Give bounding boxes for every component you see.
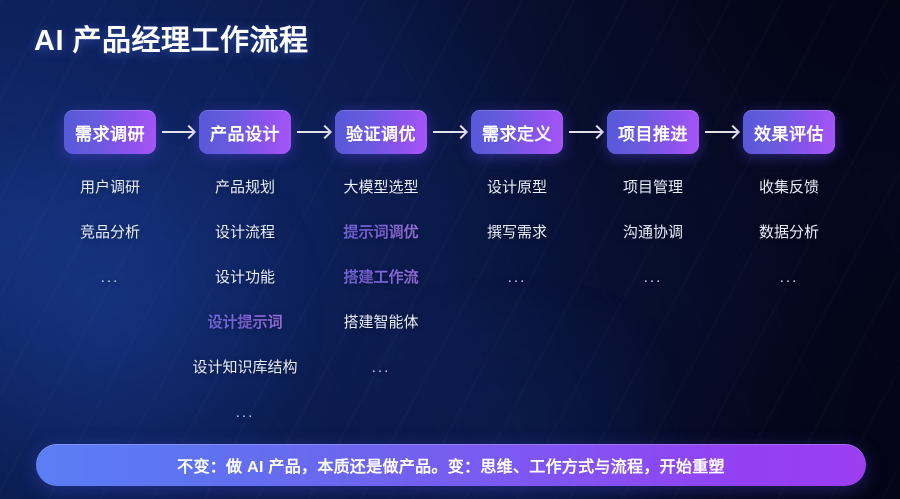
- flow-step-label: 验证调优: [346, 120, 416, 145]
- flow-step-label: 产品设计: [210, 120, 280, 145]
- column-item-ellipsis: ...: [177, 403, 313, 422]
- flow-step-label: 需求调研: [75, 120, 145, 145]
- column-item: 提示词调优: [313, 223, 449, 242]
- column-item: 用户调研: [42, 178, 178, 197]
- arrow-right-icon: [433, 131, 465, 133]
- flow-step-4[interactable]: 需求定义: [471, 110, 563, 154]
- column-5: 项目管理沟通协调...: [585, 178, 721, 313]
- bottom-banner: 不变：做 AI 产品，本质还是做产品。变：思维、工作方式与流程，开始重塑: [36, 444, 866, 486]
- flow-step-label: 效果评估: [754, 120, 824, 145]
- column-2: 产品规划设计流程设计功能设计提示词设计知识库结构...: [177, 178, 313, 448]
- column-item-ellipsis: ...: [721, 268, 857, 287]
- column-item-ellipsis: ...: [449, 268, 585, 287]
- column-item: 设计提示词: [177, 313, 313, 332]
- flow-step-6[interactable]: 效果评估: [743, 110, 835, 154]
- arrow-right-icon: [705, 131, 737, 133]
- column-1: 用户调研竞品分析...: [42, 178, 178, 313]
- flow-step-2[interactable]: 产品设计: [199, 110, 291, 154]
- column-item-ellipsis: ...: [585, 268, 721, 287]
- flow-step-5[interactable]: 项目推进: [607, 110, 699, 154]
- column-item-ellipsis: ...: [313, 358, 449, 377]
- column-item: 搭建工作流: [313, 268, 449, 287]
- page-title: AI 产品经理工作流程: [34, 17, 309, 59]
- arrow-right-icon: [569, 131, 601, 133]
- flow-step-3[interactable]: 验证调优: [335, 110, 427, 154]
- column-item: 数据分析: [721, 223, 857, 242]
- column-item-ellipsis: ...: [42, 268, 178, 287]
- column-item: 撰写需求: [449, 223, 585, 242]
- bottom-banner-text: 不变：做 AI 产品，本质还是做产品。变：思维、工作方式与流程，开始重塑: [177, 453, 725, 477]
- column-4: 设计原型撰写需求...: [449, 178, 585, 313]
- column-item: 收集反馈: [721, 178, 857, 197]
- column-item: 搭建智能体: [313, 313, 449, 332]
- column-item: 产品规划: [177, 178, 313, 197]
- column-item: 项目管理: [585, 178, 721, 197]
- column-item: 设计知识库结构: [177, 358, 313, 377]
- column-item: 大模型选型: [313, 178, 449, 197]
- flow-step-label: 需求定义: [482, 120, 552, 145]
- column-6: 收集反馈数据分析...: [721, 178, 857, 313]
- flow-step-label: 项目推进: [618, 120, 688, 145]
- column-item: 沟通协调: [585, 223, 721, 242]
- flow-steps-row: 需求调研产品设计验证调优需求定义项目推进效果评估: [0, 110, 900, 154]
- arrow-right-icon: [162, 131, 193, 133]
- column-item: 设计功能: [177, 268, 313, 287]
- column-3: 大模型选型提示词调优搭建工作流搭建智能体...: [313, 178, 449, 403]
- column-item: 设计流程: [177, 223, 313, 242]
- column-item: 竞品分析: [42, 223, 178, 242]
- arrow-right-icon: [297, 131, 329, 133]
- slide-root: AI 产品经理工作流程 需求调研产品设计验证调优需求定义项目推进效果评估 用户调…: [0, 0, 900, 499]
- column-item: 设计原型: [449, 178, 585, 197]
- flow-step-1[interactable]: 需求调研: [64, 110, 156, 154]
